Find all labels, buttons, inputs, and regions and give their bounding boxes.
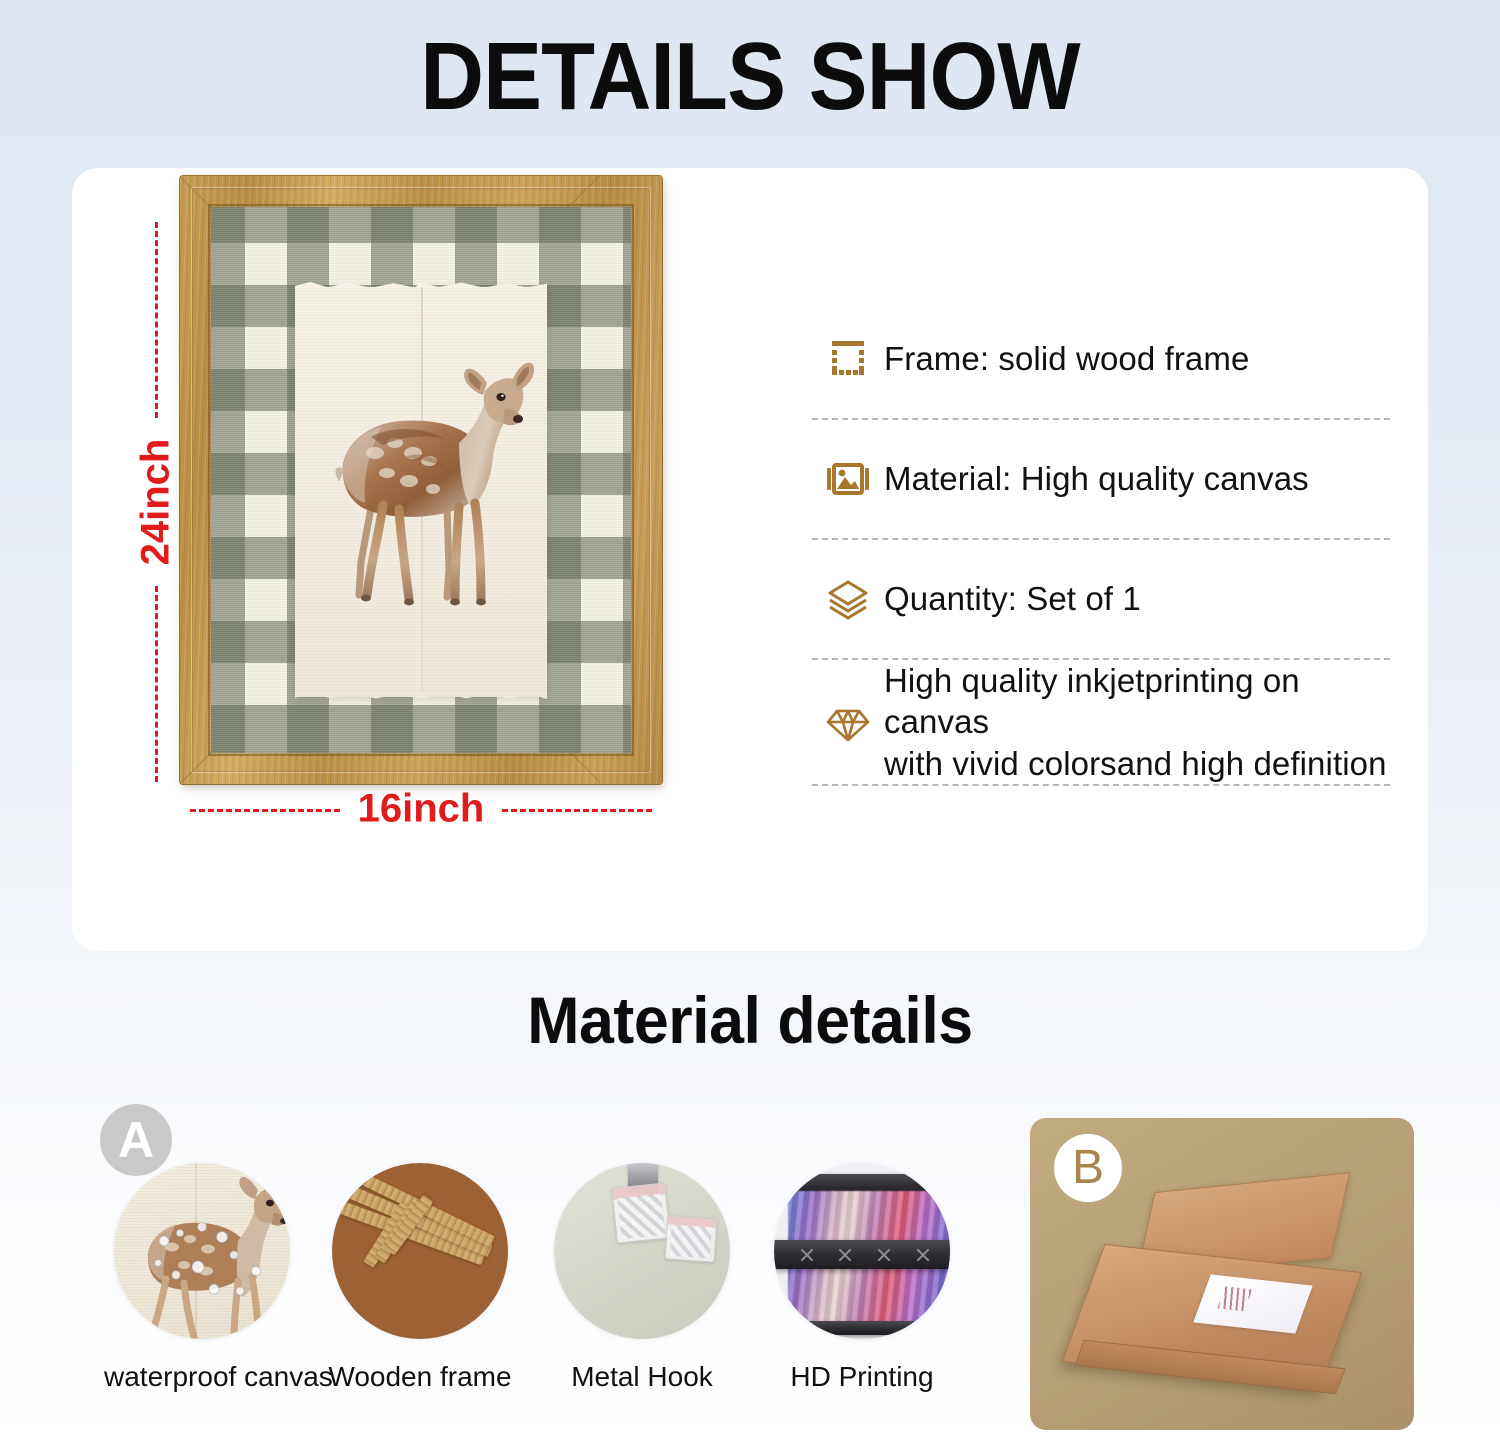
feature-label: Frame: solid wood frame [884, 338, 1249, 379]
width-dash-left [190, 809, 340, 812]
layers-icon [812, 576, 884, 622]
group-badge-b: B [1054, 1134, 1122, 1202]
height-dash-top [155, 222, 158, 418]
width-label: 16inch [358, 787, 485, 832]
deer-water-drops-thumb [114, 1163, 290, 1339]
page-title: DETAILS SHOW [60, 22, 1440, 132]
deer-illustration [309, 357, 539, 617]
wood-frame [180, 176, 662, 784]
height-dash-bottom [155, 586, 158, 782]
thumbnail-wooden-frame: Wooden frame [322, 1163, 518, 1393]
feature-label: Quantity: Set of 1 [884, 578, 1141, 619]
feature-list: Frame: solid wood frame Material: High q… [812, 300, 1390, 786]
feature-item-printing: High quality inkjetprinting on canvas wi… [812, 660, 1390, 784]
thumbnail-caption: HD Printing [764, 1361, 960, 1393]
packaging-panel-b: B [1030, 1118, 1414, 1430]
height-dimension: 24inch [134, 222, 178, 782]
thumbnail-caption: Wooden frame [322, 1361, 518, 1393]
feature-label: Material: High quality canvas [884, 458, 1309, 499]
width-dash-right [502, 809, 652, 812]
large-format-printer-thumb [774, 1163, 950, 1339]
frame-icon [812, 336, 884, 382]
section-title-material: Material details [38, 982, 1463, 1058]
feature-item-material: Material: High quality canvas [812, 420, 1390, 538]
thumbnail-caption: Metal Hook [544, 1361, 740, 1393]
wood-strips-thumb [332, 1163, 508, 1339]
hardware-bags-thumb [554, 1163, 730, 1339]
thumbnail-hd-printing: HD Printing [764, 1163, 960, 1393]
framed-artwork [180, 176, 662, 784]
feature-item-frame: Frame: solid wood frame [812, 300, 1390, 418]
group-badge-a: A [100, 1104, 172, 1176]
height-label: 24inch [134, 439, 179, 566]
feature-item-quantity: Quantity: Set of 1 [812, 540, 1390, 658]
feature-label: High quality inkjetprinting on canvas wi… [884, 660, 1390, 784]
image-icon [812, 456, 884, 502]
material-thumbnails: waterproof canvas Wooden frame Metal Hoo… [104, 1163, 984, 1433]
width-dimension: 16inch [190, 786, 652, 832]
thumbnail-metal-hook: Metal Hook [544, 1163, 740, 1393]
diamond-icon [812, 698, 884, 746]
thumbnail-waterproof-canvas: waterproof canvas [104, 1163, 300, 1393]
feature-divider [812, 784, 1390, 786]
canvas-artwork [211, 207, 631, 753]
thumbnail-caption: waterproof canvas [104, 1361, 300, 1393]
